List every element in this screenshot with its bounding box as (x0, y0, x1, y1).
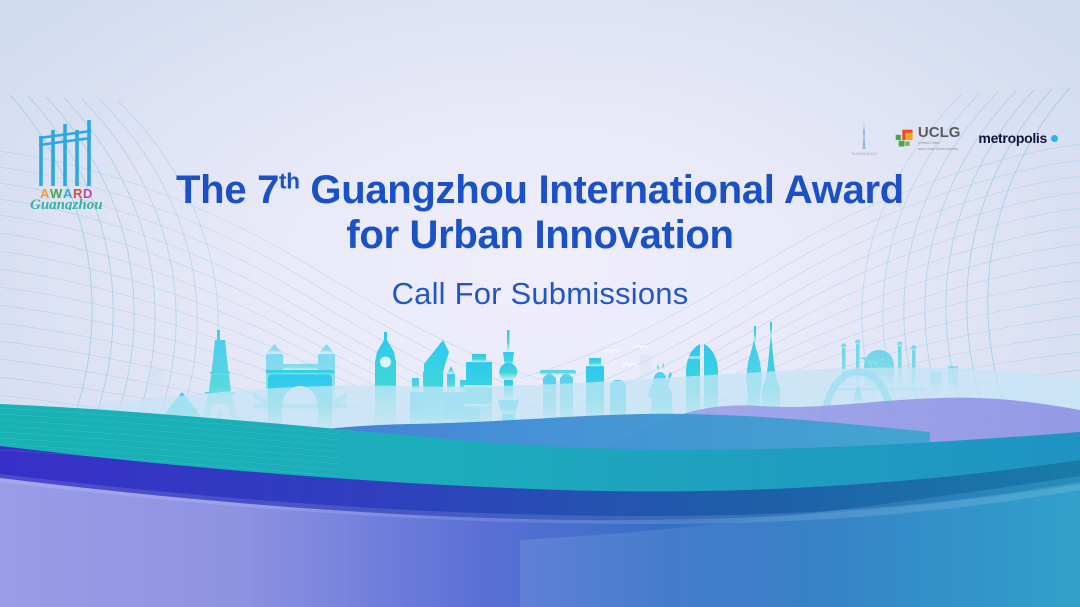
award-logo-guangzhou-text: Guangzhou (30, 197, 103, 210)
headline-line1: The 7th Guangzhou International Award (176, 168, 904, 212)
metropolis-dot-icon (1051, 135, 1058, 142)
uclg-subtitle-line1: United Cities (918, 141, 961, 145)
headline-ordinal-suffix: th (279, 169, 300, 194)
uclg-mark-icon (895, 129, 914, 148)
canton-tower-icon (856, 121, 872, 151)
page-subtitle: Call For Submissions (0, 276, 1080, 312)
page-title: The 7th Guangzhou International Award fo… (0, 168, 1080, 258)
wave-layers (0, 368, 1080, 607)
title-block: The 7th Guangzhou International Award fo… (0, 168, 1080, 312)
award-guangzhou-logo: A W A R D Guangzhou (22, 112, 118, 210)
uclg-logo: UCLG United Cities and Local Governments (895, 125, 961, 152)
uclg-subtitle-line2: and Local Governments (918, 147, 961, 151)
headline-line2: for Urban Innovation (346, 213, 733, 257)
poster-canvas: A W A R D Guangzhou GUANGZHOU (0, 0, 1080, 607)
award-logo-bars (41, 120, 89, 186)
guangzhou-tower-logo: GUANGZHOU (851, 121, 877, 156)
metropolis-title: metropolis (978, 130, 1047, 146)
guangzhou-tower-label: GUANGZHOU (851, 152, 877, 156)
metropolis-logo: metropolis (978, 130, 1058, 146)
uclg-title: UCLG (918, 125, 961, 140)
partner-logos: GUANGZHOU UCLG United Cities and Local G… (851, 112, 1058, 164)
headline-line1-pre: The 7 (176, 168, 279, 212)
headline-line1-post: Guangzhou International Award (300, 168, 904, 212)
award-logo-svg: A W A R D Guangzhou (22, 112, 118, 210)
